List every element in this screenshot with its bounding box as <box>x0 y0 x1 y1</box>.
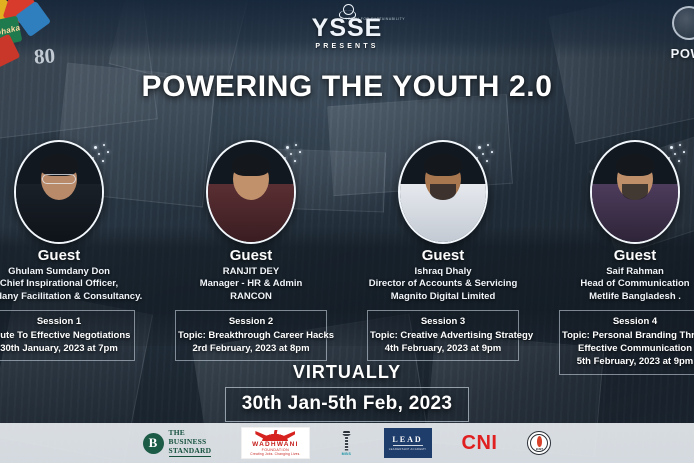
guest-name: RANJIT DEY <box>162 266 340 279</box>
session-topic: Topic: Personal Branding Through <box>562 329 694 342</box>
session-number: Session 4 <box>562 315 694 328</box>
seal-caption: BUBT <box>528 448 550 451</box>
guest-organization: Metlife Bangladesh . <box>546 291 694 304</box>
sponsor-logo-the-business-standard: B THE BUSINESS STANDARD <box>143 429 212 456</box>
session-number: Session 3 <box>370 315 516 328</box>
wadhwani-line1: WADHWANI <box>252 441 298 448</box>
sponsor-logo-mbs: MBS <box>340 431 354 456</box>
guest-photo-1 <box>14 140 104 244</box>
session-datetime: 4th February, 2023 at 9pm <box>370 342 516 355</box>
lead-line1: LEAD <box>392 435 422 444</box>
event-poster: Dhaka 80 POW YSSE YOUTH FOR SUSTAINABILI… <box>0 0 694 463</box>
guest-job-title: Manager - HR & Admin <box>162 278 340 291</box>
session-topic: Topic: Breakthrough Career Hacks <box>178 329 324 342</box>
guest-job-title: Chief Inspirational Officer, <box>0 278 148 291</box>
guest-list: Guest Ghulam Sumdany Don Chief Inspirati… <box>0 140 694 375</box>
lead-divider <box>393 445 423 446</box>
session-box: Session 2 Topic: Breakthrough Career Hac… <box>175 310 327 361</box>
guest-photo-3 <box>398 140 488 244</box>
sponsor-logo-wadhwani-foundation: WADHWANI FOUNDATION Creating Jobs. Chang… <box>241 427 309 459</box>
guest-role-label: Guest <box>0 248 148 265</box>
page-title: POWERING THE YOUTH 2.0 <box>0 70 694 104</box>
sponsor-bar: B THE BUSINESS STANDARD WADHWANI FOUNDAT… <box>0 423 694 463</box>
presents-label: PRESENTS <box>0 43 694 50</box>
guest-role-label: Guest <box>162 248 340 265</box>
guest-organization: Magnito Digital Limited <box>354 291 532 304</box>
guest-role-label: Guest <box>546 248 694 265</box>
session-number: Session 1 <box>0 315 132 328</box>
session-topic: Route To Effective Negotiations <box>0 329 132 342</box>
guest-job-title: Head of Communication <box>546 278 694 291</box>
guest-organization: RANCON <box>162 291 340 304</box>
guest-photo-2 <box>206 140 296 244</box>
session-topic-line2: Effective Communication <box>562 342 694 355</box>
session-box: Session 1 Route To Effective Negotiation… <box>0 310 135 361</box>
tbs-line3: STANDARD <box>169 447 212 457</box>
guest-card: Guest Ghulam Sumdany Don Chief Inspirati… <box>0 140 148 361</box>
event-dates-badge: 30th Jan-5th Feb, 2023 <box>225 387 469 422</box>
guest-name: Saif Rahman <box>546 266 694 279</box>
sponsor-logo-lead: LEAD LEADERSHIP ACADEMY <box>384 428 432 458</box>
guest-card: Guest Ishraq Dhaly Director of Accounts … <box>354 140 532 361</box>
lead-line3: LEADERSHIP ACADEMY <box>389 447 427 451</box>
session-box: Session 3 Topic: Creative Advertising St… <box>367 310 519 361</box>
guest-card: Guest RANJIT DEY Manager - HR & Admin RA… <box>162 140 340 361</box>
session-datetime: 2rd February, 2023 at 8pm <box>178 342 324 355</box>
sponsor-logo-cni: CNI <box>462 432 498 455</box>
wadhwani-line3: Creating Jobs. Changing Lives. <box>250 452 300 456</box>
ysse-logo: YSSE YOUTH FOR SUSTAINABILITY PRESENTS <box>0 4 694 50</box>
guest-name: Ishraq Dhaly <box>354 266 532 279</box>
tbs-monogram-icon: B <box>143 433 164 454</box>
event-mode-block: VIRTUALLY 30th Jan-5th Feb, 2023 <box>0 362 694 422</box>
event-mode-label: VIRTUALLY <box>0 362 694 383</box>
guest-organization: Sumdany Facilitation & Consultancy. <box>0 291 148 304</box>
ysse-logo-microtext: YOUTH FOR SUSTAINABILITY <box>345 17 405 21</box>
mbs-caption: MBS <box>342 452 352 456</box>
seal-ring-icon: BUBT <box>527 431 551 455</box>
tower-icon <box>340 431 354 451</box>
session-datetime: 30th January, 2023 at 7pm <box>0 342 132 355</box>
guest-role-label: Guest <box>354 248 532 265</box>
wadhwani-bird-icon <box>255 430 295 441</box>
session-number: Session 2 <box>178 315 324 328</box>
guest-card: Guest Saif Rahman Head of Communication … <box>546 140 694 375</box>
sponsor-logo-circular-seal: BUBT <box>527 431 551 455</box>
flame-icon <box>537 436 542 447</box>
guest-name: Ghulam Sumdany Don <box>0 266 148 279</box>
session-topic: Topic: Creative Advertising Strategy <box>370 329 516 342</box>
cni-wordmark: CNI <box>462 432 498 455</box>
guest-photo-4 <box>590 140 680 244</box>
guest-job-title: Director of Accounts & Servicing <box>354 278 532 291</box>
